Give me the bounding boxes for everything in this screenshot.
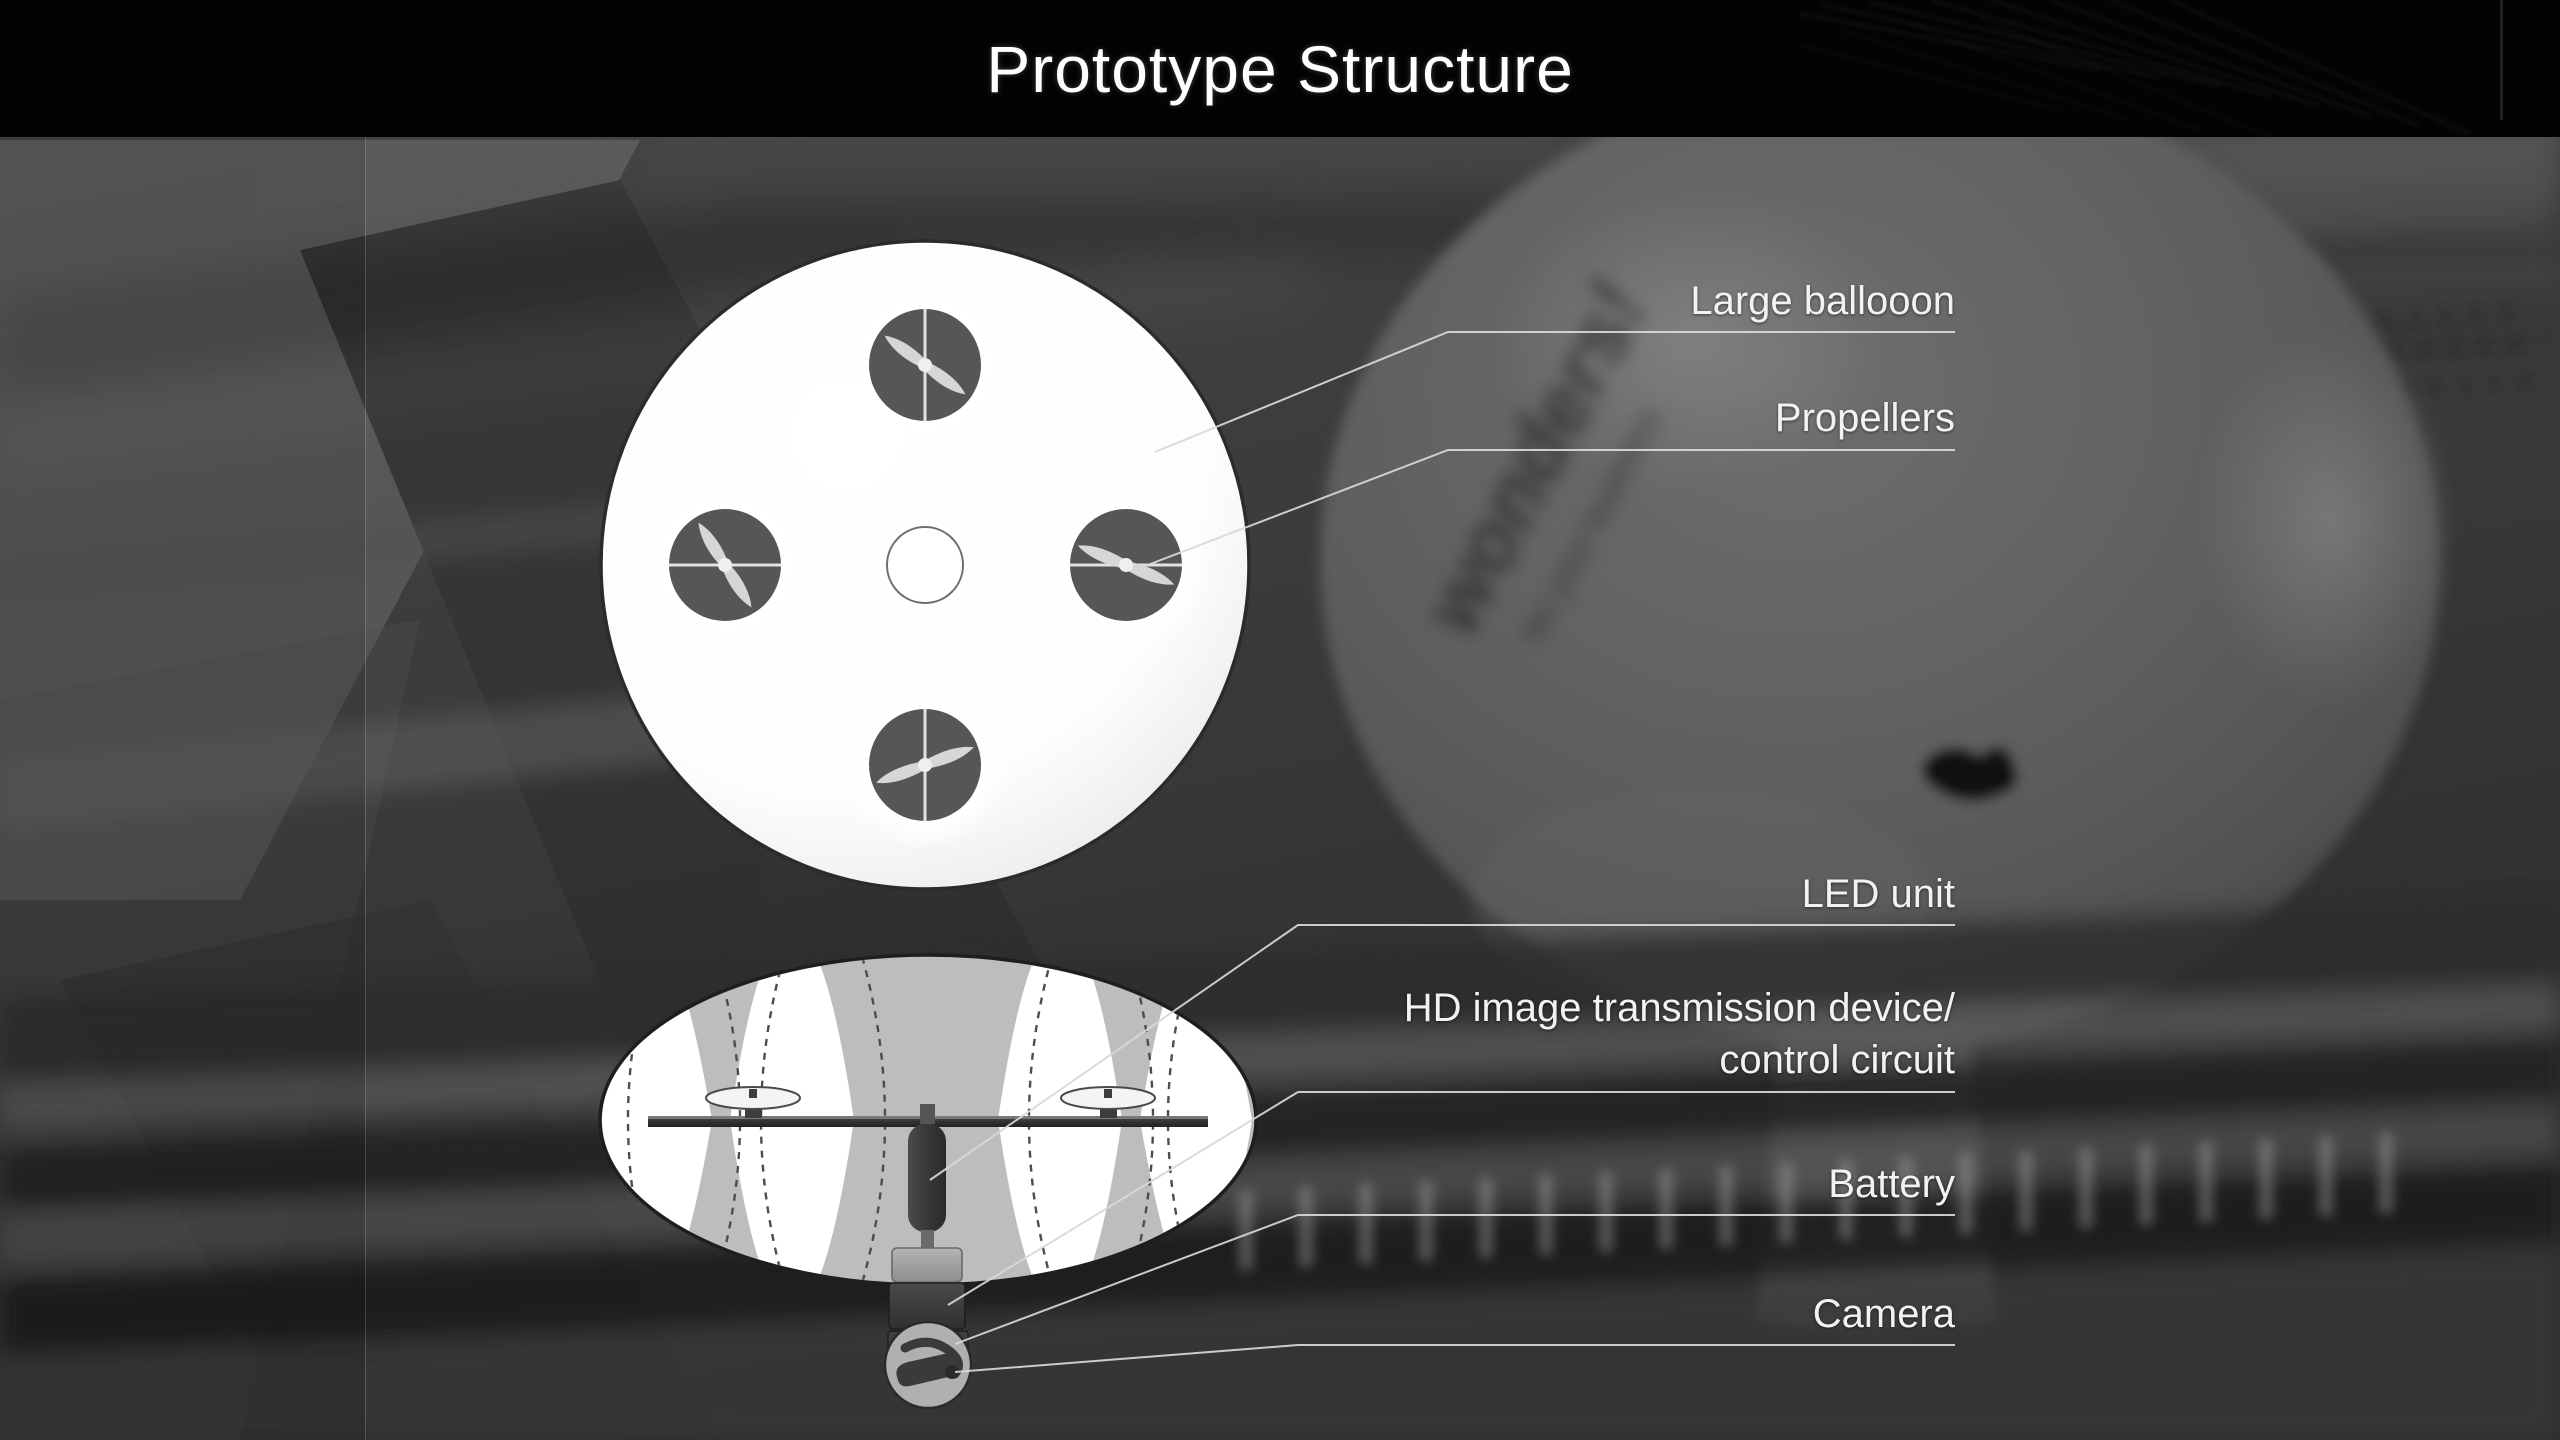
leader-propellers	[1140, 450, 1955, 568]
led-unit-part	[908, 1124, 946, 1232]
callout-label-large-balloon: Large ballooon	[1690, 275, 1955, 327]
propeller-unit-north	[839, 279, 1011, 451]
prototype-diagram	[0, 0, 2560, 1440]
center-hub	[887, 527, 963, 603]
callout-label-camera: Camera	[1813, 1288, 1955, 1340]
propeller-unit-west	[639, 479, 811, 651]
callout-label-battery: Battery	[1828, 1158, 1955, 1210]
side-view-diagram	[600, 930, 1280, 1408]
callout-label-led-unit: LED unit	[1802, 868, 1955, 920]
callout-label-hd-transmission: HD image transmission device/ control ci…	[1404, 982, 1955, 1086]
slide-root: wonders! for your business	[0, 0, 2560, 1440]
leader-camera	[955, 1345, 1955, 1372]
propeller-unit-south	[839, 679, 1011, 851]
camera-part	[885, 1322, 971, 1408]
propeller-unit-east	[1040, 479, 1212, 651]
top-view-diagram	[601, 241, 1249, 889]
callout-label-propellers: Propellers	[1775, 392, 1955, 444]
